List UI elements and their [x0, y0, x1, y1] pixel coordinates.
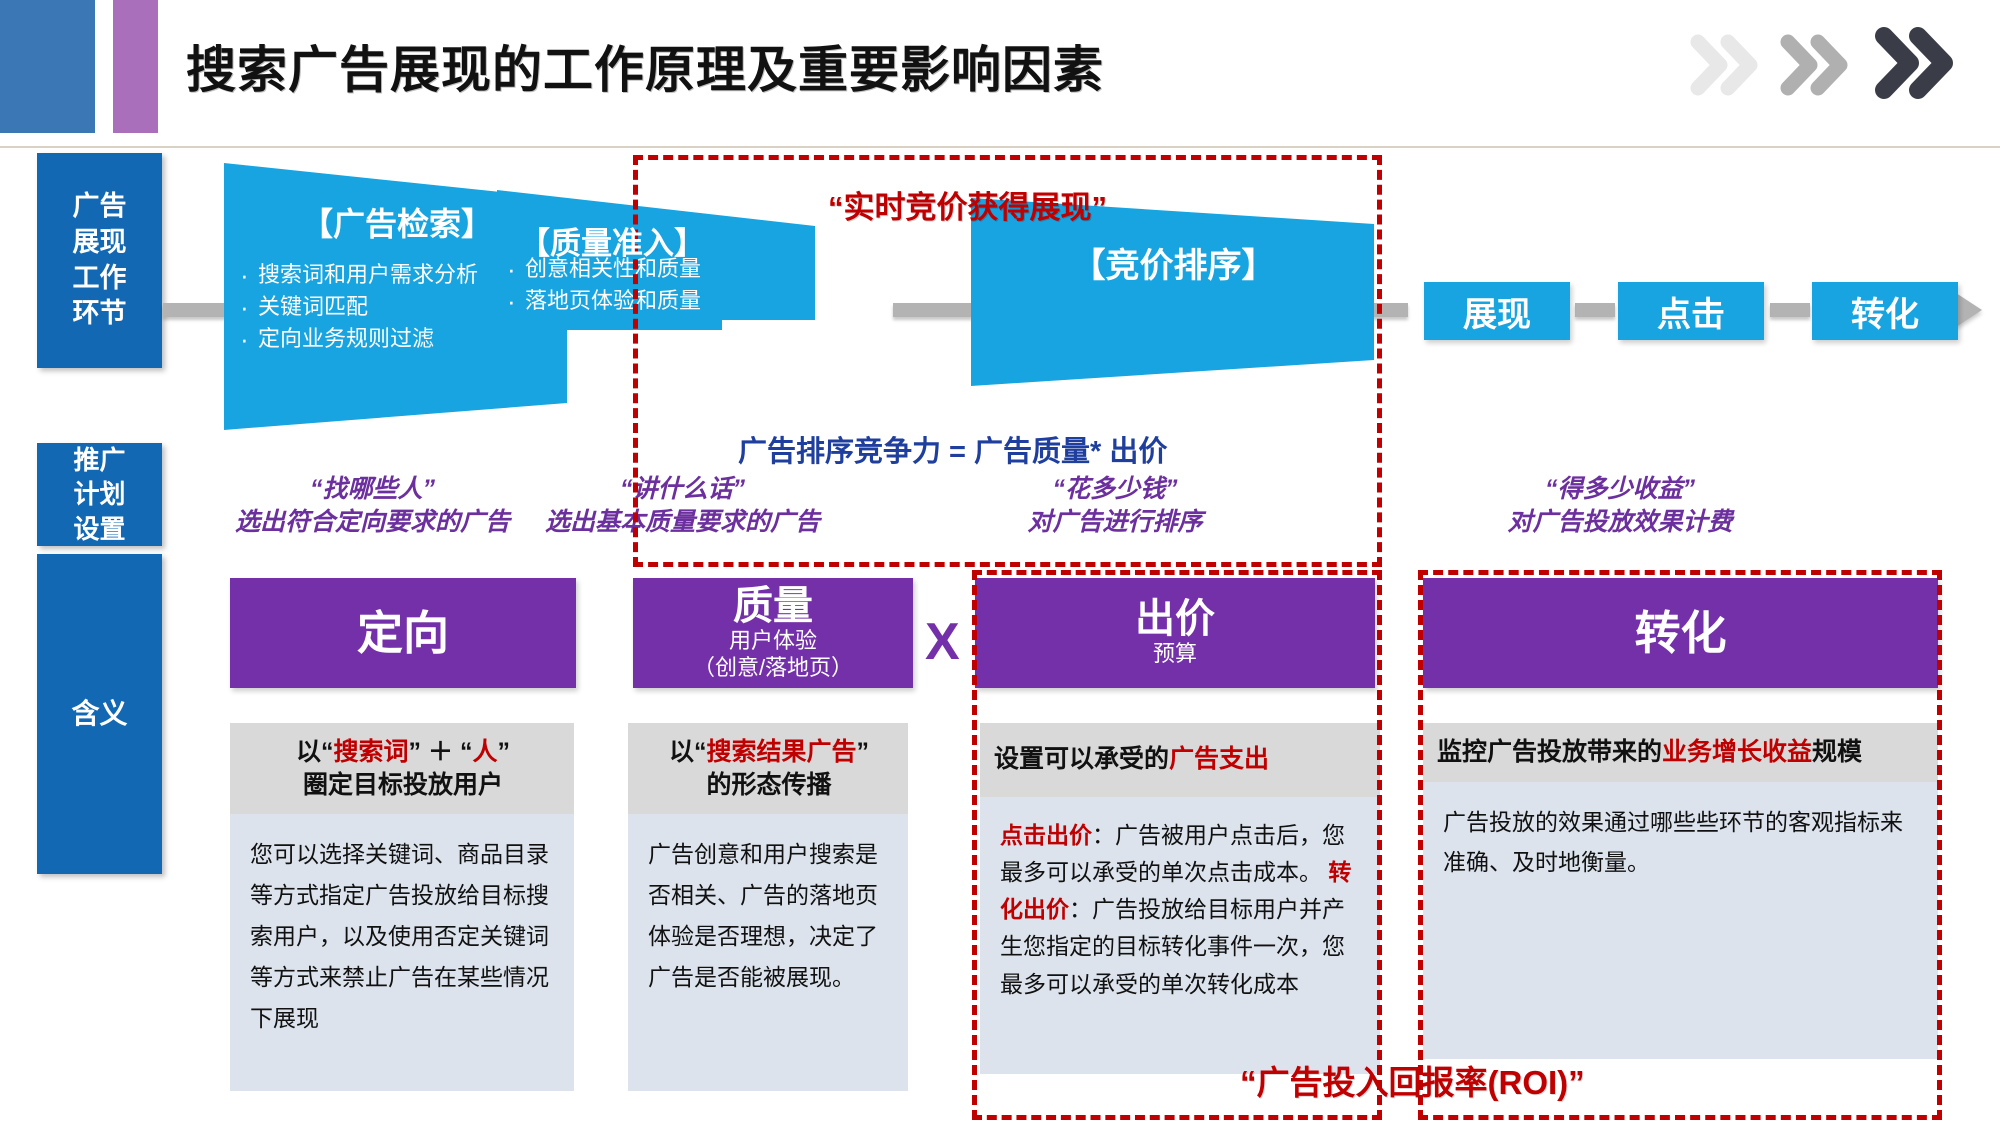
- header-purple-accent: [113, 0, 158, 133]
- meaning-card-2-body: 广告创意和用户搜索是否相关、广告的落地页体验是否理想，决定了广告是否能被展现。: [628, 814, 908, 1091]
- page-title: 搜索广告展现的工作原理及重要影响因素: [186, 30, 1104, 102]
- meaning-card-targeting: 以“搜索词” ＋ “人” 圈定目标投放用户 您可以选择关键词、商品目录等方式指定…: [230, 723, 574, 1091]
- stage-conversion[interactable]: 转化: [1812, 282, 1958, 340]
- head-2-post: ”: [857, 738, 870, 766]
- head-1-red2: 人: [472, 738, 497, 766]
- connector-click-to-conversion: [1770, 303, 1810, 317]
- header-divider: [0, 146, 2000, 148]
- slide-canvas: 搜索广告展现的工作原理及重要影响因素 广告 展现 工作 环节 推广 计划 设置 …: [0, 0, 2000, 1125]
- funnel-1-bullet-3: 定向业务规则过滤: [234, 323, 478, 355]
- caption-conversion: “得多少收益” 对广告投放效果计费: [1400, 473, 1840, 539]
- funnel-2-title: 【质量准入】: [497, 218, 817, 263]
- rail-1-line-1: 广告: [73, 189, 127, 225]
- rail-campaign-settings: 推广 计划 设置: [37, 443, 162, 546]
- caption-4-line-1: “得多少收益”: [1400, 473, 1840, 506]
- head-1-mid: ” ＋ “: [409, 738, 473, 766]
- stage-click[interactable]: 点击: [1618, 282, 1764, 340]
- rail-1-line-4: 环节: [73, 296, 127, 332]
- head-1-line2: 圈定目标投放用户: [244, 769, 562, 802]
- head-2-red: 搜索结果广告: [707, 738, 857, 766]
- head-1-pre: 以“: [296, 738, 334, 766]
- plan-box-2-sub2: （创意/落地页）: [693, 654, 853, 682]
- rail-2-line-1: 推广: [73, 443, 125, 477]
- flow-arrow-head-icon: [1956, 293, 1982, 327]
- plan-box-targeting[interactable]: 定向: [230, 578, 576, 688]
- funnel-1-bullet-2: 关键词匹配: [234, 291, 478, 323]
- chevron-double-right-medium-icon: [1780, 34, 1858, 96]
- dashed-frame-conversion: [1418, 570, 1942, 1120]
- funnel-2-textwrap: 【质量准入】: [497, 190, 817, 320]
- meaning-card-1-body: 您可以选择关键词、商品目录等方式指定广告投放给目标搜索用户，以及使用否定关键词等…: [230, 814, 574, 1091]
- multiply-symbol: X: [925, 612, 960, 672]
- funnel-1-bullet-1: 搜索词和用户需求分析: [234, 259, 478, 291]
- meaning-card-quality: 以“搜索结果广告” 的形态传播 广告创意和用户搜索是否相关、广告的落地页体验是否…: [628, 723, 908, 1091]
- meaning-card-1-head: 以“搜索词” ＋ “人” 圈定目标投放用户: [230, 723, 574, 814]
- caption-4-line-2: 对广告投放效果计费: [1400, 506, 1840, 539]
- connector-impression-to-click: [1575, 303, 1615, 317]
- rail-3-line-1: 含义: [71, 696, 127, 733]
- chevron-double-right-light-icon: [1690, 34, 1768, 96]
- head-1-red: 搜索词: [334, 738, 409, 766]
- stage-impression[interactable]: 展现: [1424, 282, 1570, 340]
- head-2-pre: 以“: [669, 738, 707, 766]
- plan-box-2-sub: 用户体验: [729, 627, 817, 655]
- head-2-line2: 的形态传播: [642, 769, 896, 802]
- header-blue-accent: [0, 0, 95, 133]
- rail-1-line-2: 展现: [73, 225, 127, 261]
- chevron-double-right-dark-icon: [1874, 26, 1966, 100]
- rail-2-line-2: 计划: [73, 477, 125, 511]
- rail-2-line-3: 设置: [73, 512, 125, 546]
- rail-meaning: 含义: [37, 554, 162, 874]
- roi-label: “广告投入回报率(ROI)”: [1240, 1056, 1585, 1104]
- plan-box-1-main: 定向: [357, 609, 449, 657]
- plan-box-quality[interactable]: 质量 用户体验 （创意/落地页）: [633, 578, 913, 688]
- dashed-frame-bid: [972, 570, 1382, 1120]
- plan-box-2-main: 质量: [733, 585, 813, 627]
- meaning-card-2-head: 以“搜索结果广告” 的形态传播: [628, 723, 908, 814]
- rail-1-line-3: 工作: [73, 261, 127, 297]
- rail-ad-display-stage: 广告 展现 工作 环节: [37, 153, 162, 368]
- head-1-post: ”: [497, 738, 510, 766]
